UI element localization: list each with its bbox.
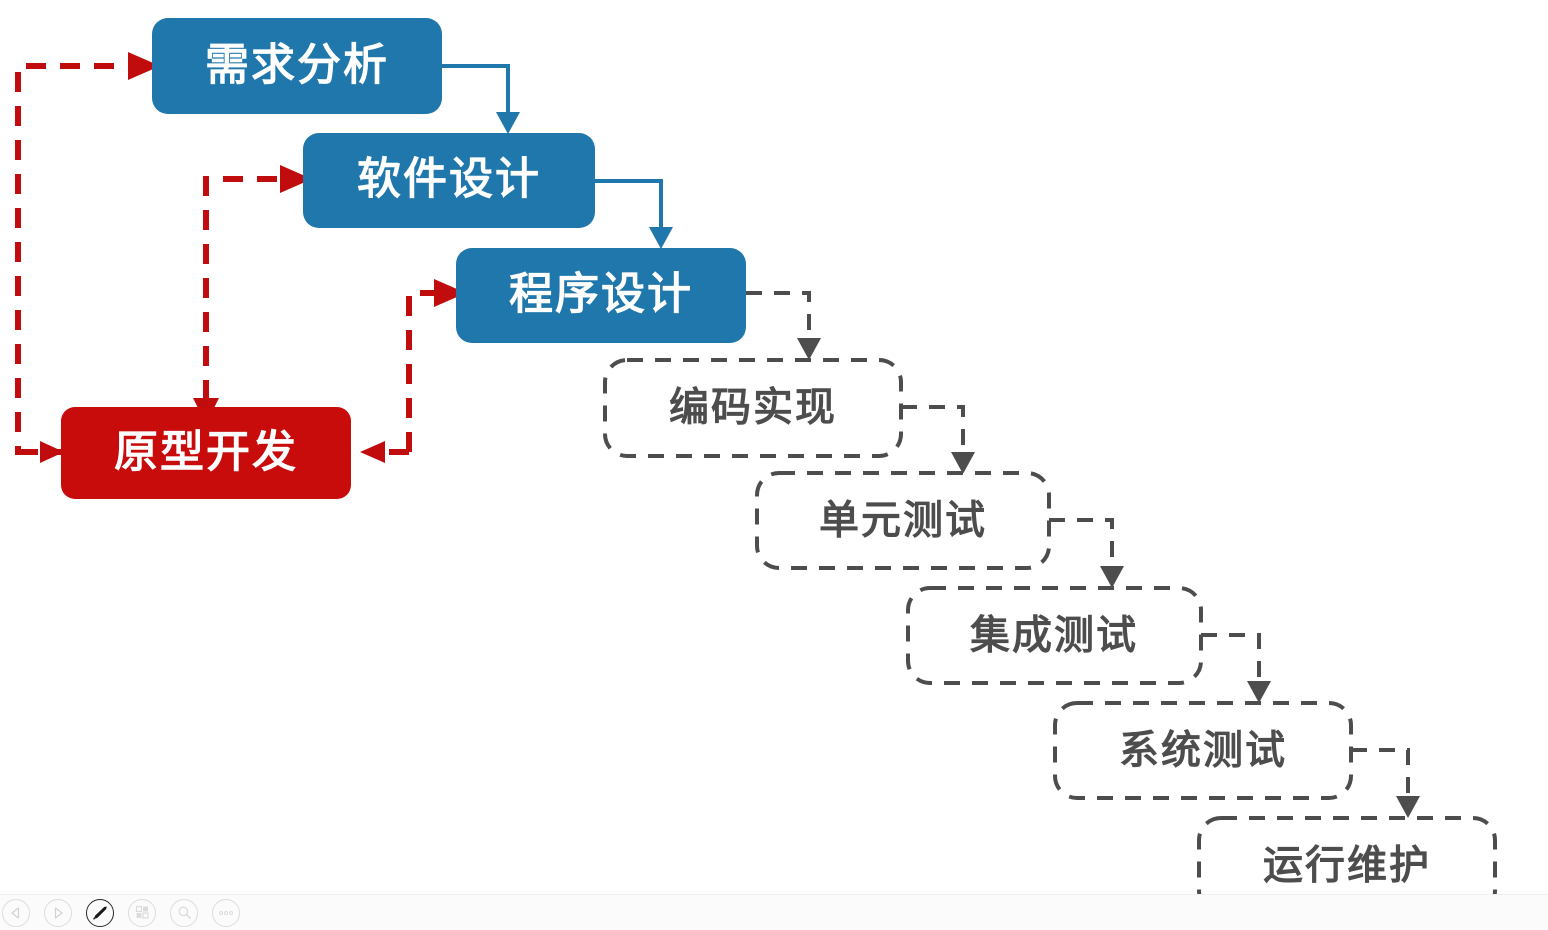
next-slide-icon: [51, 906, 65, 920]
node-requirement[interactable]: 需求分析: [152, 18, 442, 114]
node-program-label: 程序设计: [509, 270, 693, 319]
node-coding[interactable]: 编码实现: [605, 360, 901, 456]
node-prototype-label: 原型开发: [114, 428, 298, 477]
node-prototype[interactable]: 原型开发: [61, 407, 351, 499]
node-program[interactable]: 程序设计: [456, 248, 746, 343]
connector-software-to-program: [595, 181, 673, 249]
layout-button[interactable]: [128, 899, 156, 927]
pen-button[interactable]: [86, 899, 114, 927]
connector-prototype-to-requirement: [18, 52, 160, 463]
ellipsis-icon: [218, 910, 234, 916]
node-unit-test-label: 单元测试: [819, 499, 987, 543]
magnifier-icon: [177, 905, 192, 920]
connector-integration-to-system: [1201, 635, 1271, 703]
connector-program-to-prototype: [360, 279, 466, 463]
pen-icon: [91, 904, 109, 922]
more-options-button[interactable]: [212, 899, 240, 927]
previous-slide-button[interactable]: [2, 899, 30, 927]
node-integration-test-label: 集成测试: [969, 614, 1138, 658]
node-software[interactable]: 软件设计: [303, 133, 595, 228]
connector-unit-to-integration: [1049, 520, 1124, 588]
flowchart-canvas: 需求分析 软件设计 程序设计 原型开发 编码实现 单元测试 集成测试 系统测试 …: [0, 0, 1548, 930]
presentation-toolbar: [0, 894, 1548, 930]
connector-coding-to-unit-test: [901, 407, 975, 474]
node-system-test-label: 系统测试: [1119, 729, 1287, 773]
node-maintenance-label: 运行维护: [1263, 844, 1431, 888]
connector-program-to-coding: [746, 293, 821, 360]
node-system-test[interactable]: 系统测试: [1055, 703, 1351, 798]
connector-requirement-to-software: [442, 66, 520, 134]
node-integration-test[interactable]: 集成测试: [908, 588, 1201, 683]
zoom-button[interactable]: [170, 899, 198, 927]
node-software-label: 软件设计: [357, 155, 541, 204]
node-unit-test[interactable]: 单元测试: [757, 473, 1049, 568]
next-slide-button[interactable]: [44, 899, 72, 927]
previous-slide-icon: [9, 906, 23, 920]
grid-layout-icon: [135, 905, 150, 920]
connector-system-to-maintenance: [1351, 750, 1420, 818]
node-coding-label: 编码实现: [669, 386, 837, 430]
connector-prototype-to-software: [193, 165, 312, 424]
node-requirement-label: 需求分析: [205, 41, 389, 90]
